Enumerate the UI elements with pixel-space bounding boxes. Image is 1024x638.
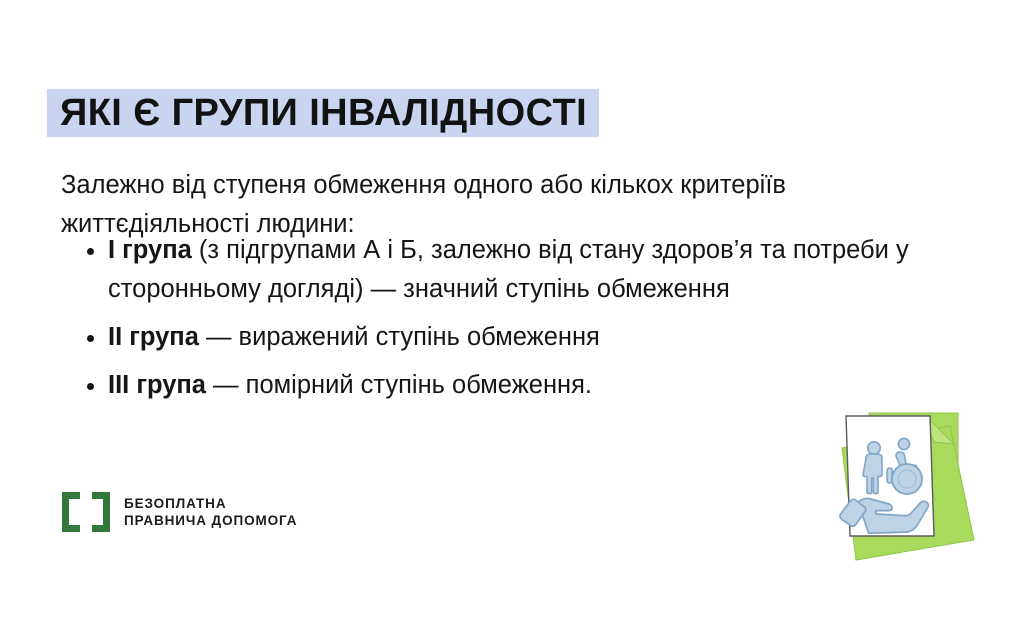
list-item-lead: II група bbox=[108, 323, 199, 351]
page-title: ЯКІ Є ГРУПИ ІНВАЛІДНОСТІ bbox=[47, 89, 599, 137]
brand-logo: БЕЗОПЛАТНА ПРАВНИЧА ДОПОМОГА bbox=[62, 492, 297, 532]
bullet-dot-icon bbox=[87, 383, 94, 390]
brand-logo-line2: ПРАВНИЧА ДОПОМОГА bbox=[124, 512, 297, 529]
disability-groups-list: I група (з підгрупами А і Б, залежно від… bbox=[84, 231, 964, 405]
bullet-dot-icon bbox=[87, 248, 94, 255]
bracket-mark-icon bbox=[62, 492, 110, 532]
list-item-lead: I група bbox=[108, 236, 192, 264]
documents-with-accessibility-icon bbox=[822, 396, 994, 568]
bullet-dot-icon bbox=[87, 335, 94, 342]
brand-logo-text: БЕЗОПЛАТНА ПРАВНИЧА ДОПОМОГА bbox=[124, 495, 297, 529]
list-item-text: (з підгрупами А і Б, залежно від стану з… bbox=[108, 236, 909, 303]
list-item-lead: III група bbox=[108, 371, 206, 399]
list-item-text: — виражений ступінь обмеження bbox=[199, 323, 600, 351]
brand-logo-line1: БЕЗОПЛАТНА bbox=[124, 495, 297, 512]
slide: ЯКІ Є ГРУПИ ІНВАЛІДНОСТІ Залежно від сту… bbox=[0, 0, 1024, 638]
list-item: I група (з підгрупами А і Б, залежно від… bbox=[84, 231, 964, 309]
list-item: II група — виражений ступінь обмеження bbox=[84, 318, 964, 357]
page-title-wrapper: ЯКІ Є ГРУПИ ІНВАЛІДНОСТІ bbox=[47, 64, 599, 163]
list-item-text: — помірний ступінь обмеження. bbox=[206, 371, 592, 399]
